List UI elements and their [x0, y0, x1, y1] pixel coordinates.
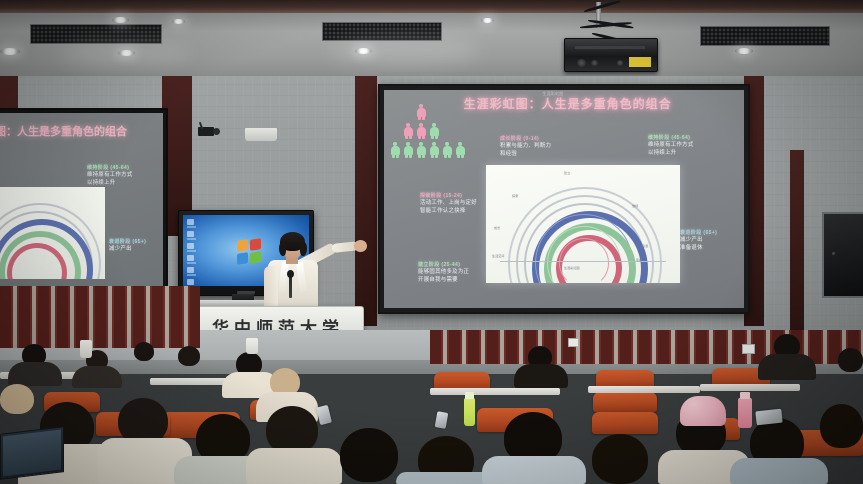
projector-lens [577, 59, 586, 67]
side-rainbow-card [0, 187, 105, 279]
rainbow-label-far-left: 成长 [494, 225, 500, 230]
block-line: 活动工作、上岗与定好 [420, 200, 477, 208]
rainbow-label-left: 探索 [512, 193, 518, 198]
block-line: 积累与能力、判断力 [500, 143, 551, 151]
wall-switch-plate [742, 344, 755, 354]
ceiling-downlight [0, 48, 20, 55]
wall-switch-plate [568, 338, 579, 347]
block-line: 维持原有工作方式 [648, 142, 694, 150]
lecture-hall-photo: 生涯彩虹图 生涯彩虹图：人生是多重角色的组合 [0, 0, 863, 484]
block-line: 准备退休 [680, 245, 717, 253]
ceiling [0, 0, 863, 78]
rainbow-top-label: 建立 [564, 170, 570, 175]
desktop-icon[interactable] [187, 243, 194, 249]
audience-head [134, 342, 154, 361]
slide-text-block-decline: 衰退阶段 (65+) 减少产出 准备退休 [680, 230, 717, 253]
wood-column-far-right [790, 150, 804, 338]
projector-cable [584, 0, 621, 13]
slide-text-block-maintain: 维持阶段 (45-64) 维持原有工作方式 以持续上升 [648, 135, 694, 158]
audience-shoulders [72, 366, 122, 388]
ceiling-light-wash [60, 40, 190, 66]
audience-shoulders-front [246, 448, 342, 484]
water-bottle [246, 338, 258, 354]
rainbow-caption: 生涯彩虹图 [564, 265, 579, 270]
rainbow-label-right: 维持 [632, 203, 638, 208]
ceiling-beam [0, 0, 863, 13]
smartphone[interactable] [435, 411, 449, 429]
projected-slide: 生涯彩虹图 生涯彩虹图：人生是多重角色的组合 [384, 90, 744, 308]
projector-vent [591, 60, 598, 66]
audience-head-light-hair [0, 384, 34, 414]
slide-text-block-establish: 建立阶段 (25-44) 能够固其他多及为正 开展自我与需要 [418, 262, 469, 285]
people-pyramid [390, 104, 460, 160]
audience-head-front [266, 406, 318, 454]
audience-shoulders [758, 354, 816, 380]
block-line: 维持原有工作方式 [87, 172, 133, 180]
desktop-icon[interactable] [187, 279, 194, 285]
water-bottle [80, 340, 92, 358]
water-bottle [738, 398, 752, 428]
ceiling-projector [558, 2, 662, 76]
slide-text-block-growth: 成长阶段 (0-14) 积累与能力、判断力 和经验 [500, 136, 551, 159]
block-line: 开展自我与需要 [418, 277, 469, 285]
ceiling-downlight [481, 18, 494, 23]
audience-head-front [592, 434, 648, 484]
audience-shoulders [8, 362, 62, 386]
projector-vent [617, 60, 623, 66]
side-slide-title: 图：人生是多重角色的组合 [0, 123, 127, 139]
wall-speaker [245, 128, 277, 141]
hvac-vent [700, 26, 830, 46]
block-line: 和经验 [500, 151, 551, 159]
slat-wall-band-left [0, 286, 200, 348]
projector-label [629, 57, 651, 67]
rainbow-corner-label: 年龄 [636, 257, 642, 262]
audience-head [838, 348, 863, 372]
desktop-icon[interactable] [187, 255, 194, 261]
speaker-hand [354, 240, 367, 252]
speaker-hair-side [279, 242, 286, 256]
block-line: 以持续上升 [648, 150, 694, 158]
ceiling-downlight [112, 17, 129, 23]
audience-shoulders [514, 364, 568, 388]
speaker-hair-side [300, 242, 307, 256]
wall-monitor-right[interactable] [822, 212, 863, 298]
block-line: 减少产出 [109, 246, 146, 254]
block-line: 智能工作认之抉择 [420, 208, 477, 216]
ceiling-light-wash [330, 36, 480, 66]
audience-shoulders-front [730, 458, 828, 484]
slide-text-block-explore: 探索阶段 (15-24) 活动工作、上岗与定好 智能工作认之抉择 [420, 193, 477, 216]
career-rainbow-diagram: 建立 探索 维持 成长 衰退 生活空间 年龄 生涯彩虹图 [486, 165, 680, 283]
water-bottle [464, 398, 475, 426]
desktop-icon[interactable] [187, 231, 194, 237]
rainbow-label-far-right: 衰退 [642, 243, 648, 248]
projection-screen: 生涯彩虹图 生涯彩虹图：人生是多重角色的组合 [378, 84, 750, 314]
audience-shoulders-front [482, 456, 586, 484]
slide-title: 生涯彩虹图：人生是多重角色的组合 [420, 95, 715, 112]
monitor-indicator [832, 252, 835, 255]
desk-ledge [588, 386, 700, 393]
camera-lens-icon [213, 128, 220, 135]
projector-seam [575, 46, 645, 49]
desk-ledge [430, 388, 560, 395]
desktop-icon[interactable] [187, 219, 194, 225]
side-text-block: 衰退阶段 (65+) 减少产出 [109, 239, 146, 254]
laptop[interactable] [0, 426, 64, 480]
audience-head-front [340, 428, 398, 482]
projector-body [564, 38, 658, 72]
seat [592, 412, 658, 434]
smartphone[interactable] [755, 409, 782, 426]
microphone-head [287, 270, 294, 278]
side-text-block: 维持阶段 (45-64) 维持原有工作方式 以持续上升 [87, 165, 133, 188]
microphone [289, 276, 292, 298]
ceiling-downlight [735, 48, 753, 54]
bottle-cap [465, 392, 474, 399]
seat [593, 392, 657, 412]
block-line: 减少产出 [680, 237, 717, 245]
desk-ledge [700, 384, 800, 391]
block-line: 能够固其他多及为正 [418, 269, 469, 277]
audience-head [178, 346, 200, 366]
pink-floral-bag [680, 396, 726, 426]
bottle-cap [740, 392, 750, 399]
rainbow-corner-label: 生活空间 [492, 253, 504, 258]
audience-head-front [820, 404, 863, 448]
ceiling-downlight [172, 19, 185, 24]
side-projected-slide: 图：人生是多重角色的组合 维持阶段 (45-64) 维持原有工作方式 以持续上升… [0, 113, 163, 287]
smartphone[interactable] [316, 405, 332, 425]
side-projection-screen: 图：人生是多重角色的组合 维持阶段 (45-64) 维持原有工作方式 以持续上升… [0, 108, 168, 292]
desktop-icon[interactable] [187, 267, 194, 273]
